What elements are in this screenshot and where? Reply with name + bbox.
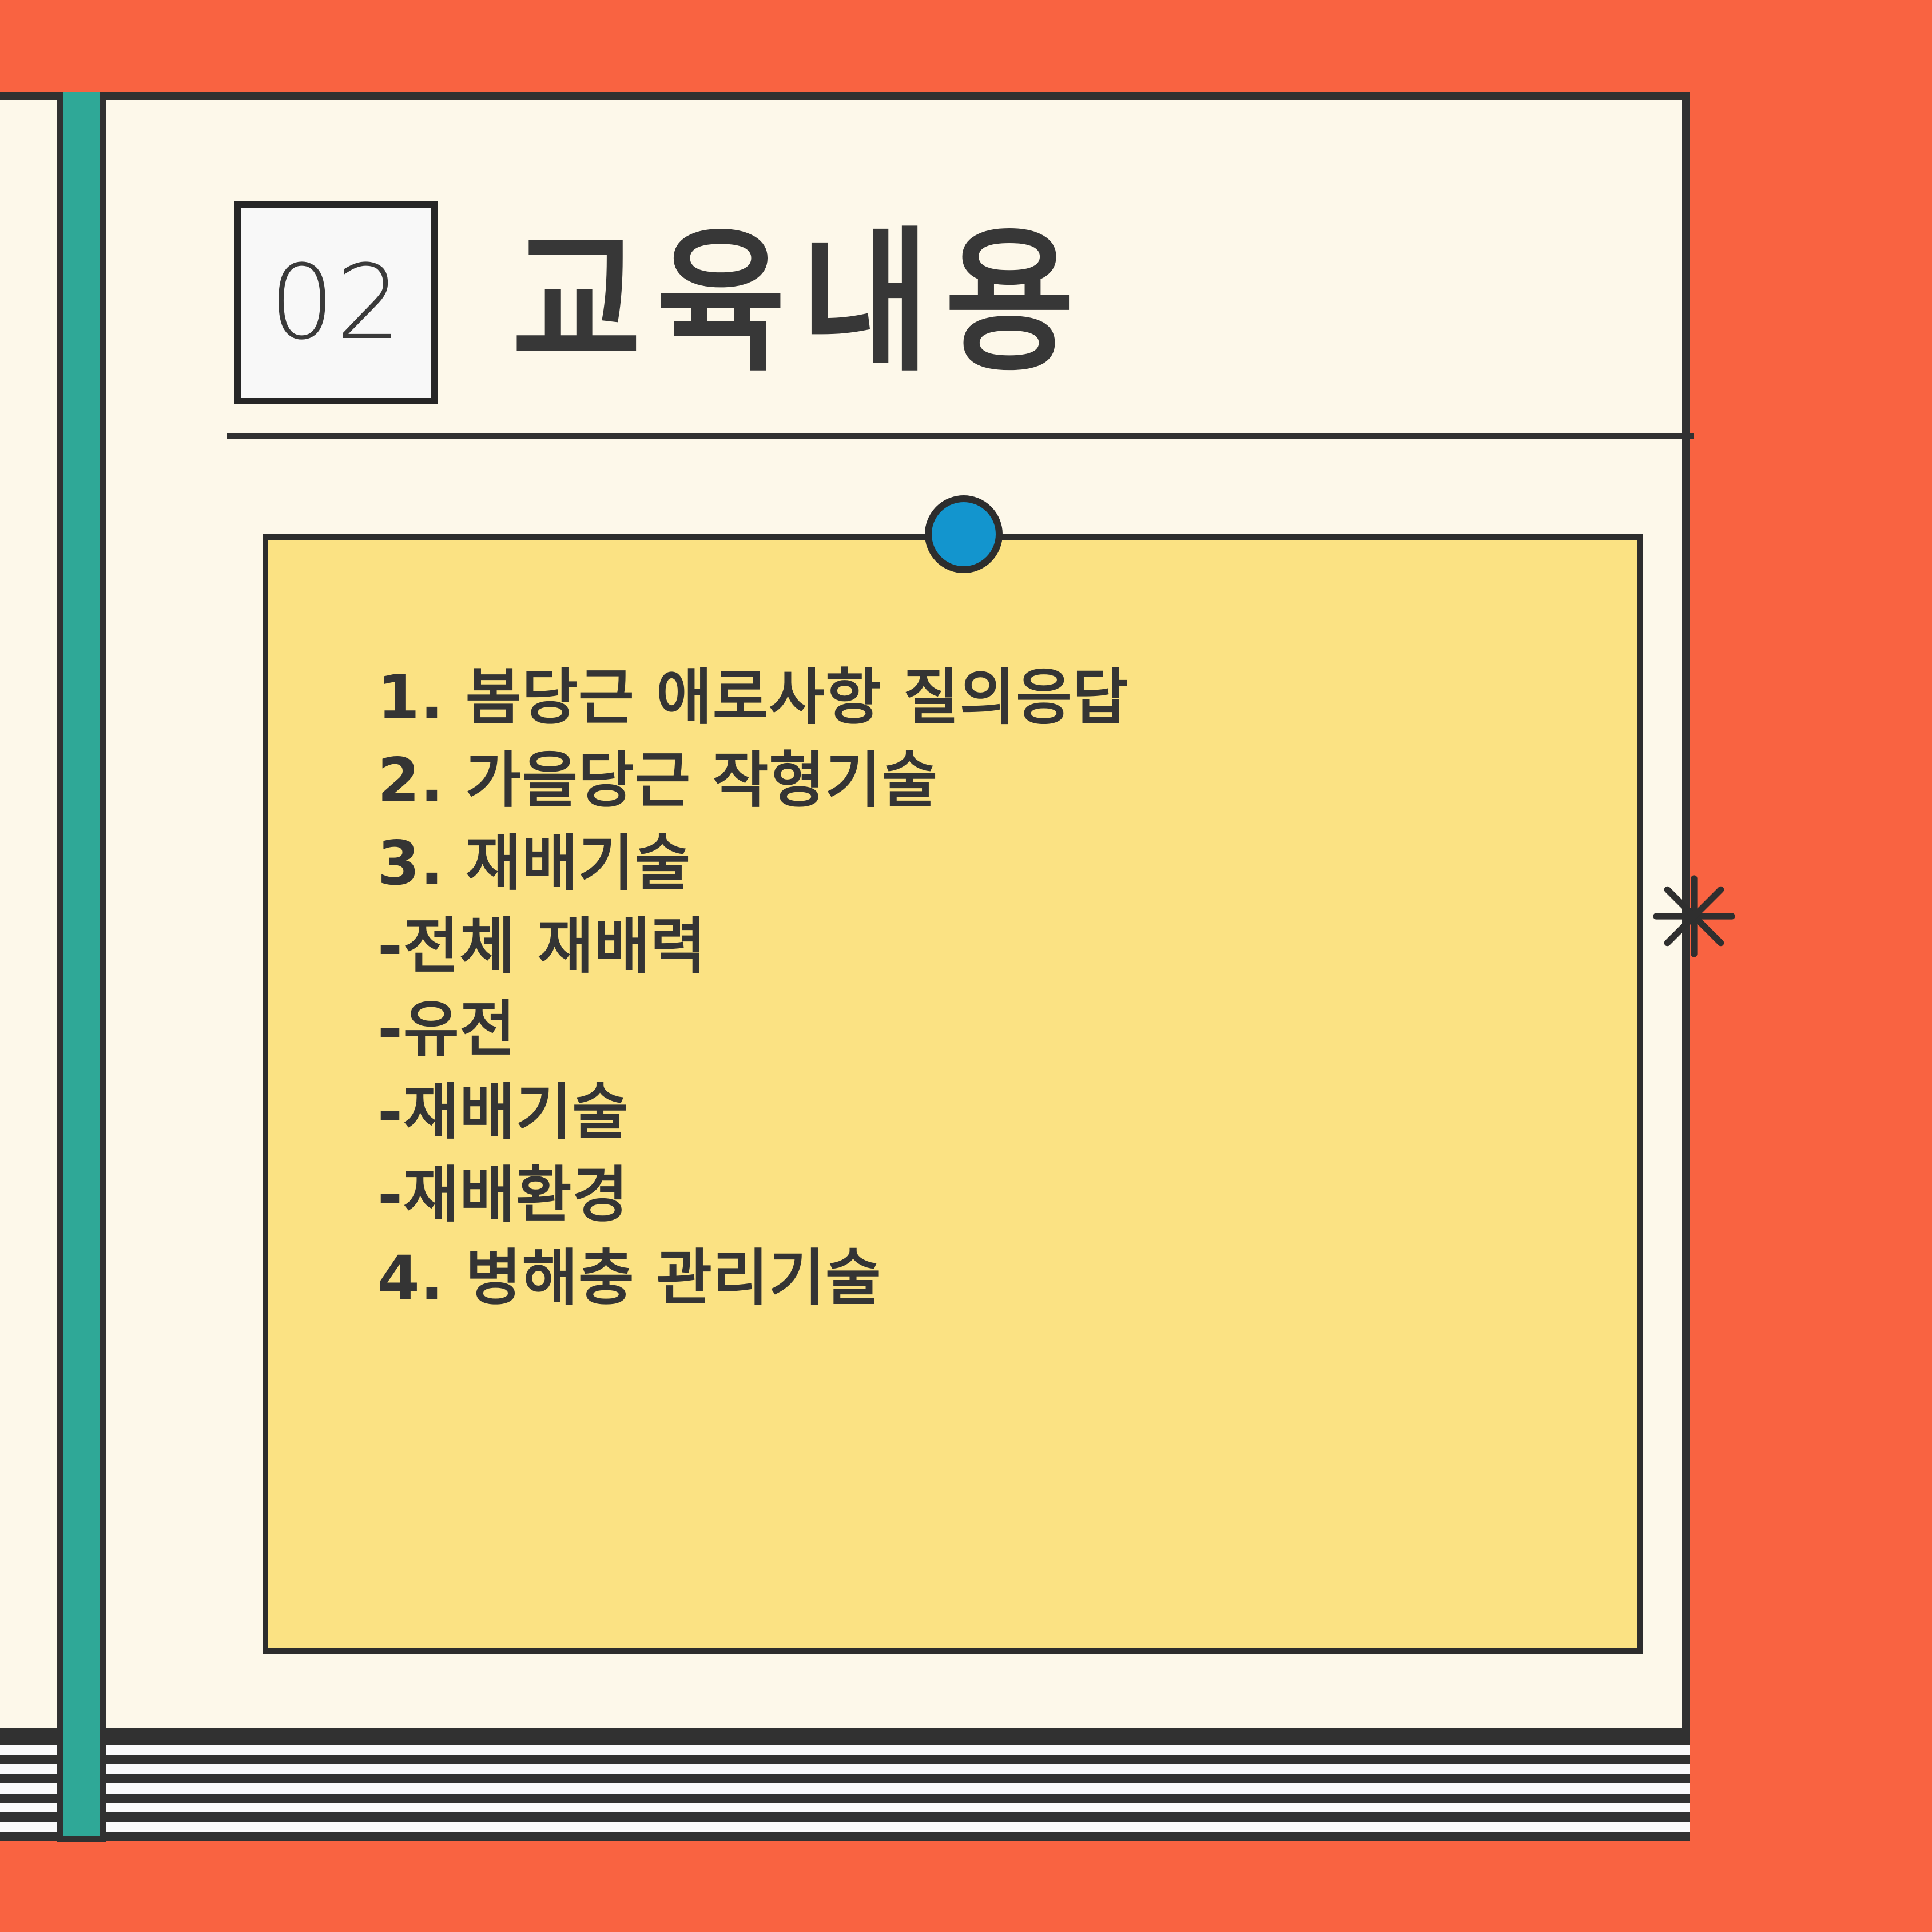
agenda-item: 4. 병해충 관리기술: [377, 1237, 1579, 1319]
asterisk-icon-svg: [1651, 873, 1737, 959]
agenda-item: -유전: [377, 988, 1579, 1071]
agenda-item: 2. 가을당근 작형기술: [377, 739, 1579, 822]
stripe-line: [0, 1774, 1690, 1783]
teal-accent-bar: [57, 92, 106, 1842]
stripe-line: [0, 1794, 1690, 1803]
page-title: 교육내용: [512, 225, 1089, 380]
agenda-list: 1. 봄당근 애로사항 질의응답2. 가을당근 작형기술3. 재배기술-전체 재…: [377, 656, 1579, 1319]
agenda-item: -재배환경: [377, 1154, 1579, 1237]
stripe-line: [0, 1832, 1690, 1841]
section-number-label: 02: [269, 252, 403, 355]
slide-header: 02 교육내용: [234, 201, 1693, 404]
agenda-item: 3. 재배기술: [377, 822, 1579, 905]
agenda-item: -재배기술: [377, 1071, 1579, 1154]
title-divider: [227, 433, 1694, 439]
stripe-line: [0, 1736, 1690, 1745]
stripe-line: [0, 1812, 1690, 1822]
slide-canvas: 02 교육내용 1. 봄당근 애로사항 질의응답2. 가을당근 작형기술3. 재…: [0, 0, 1932, 1932]
agenda-item: 1. 봄당근 애로사항 질의응답: [377, 656, 1579, 739]
blue-dot-marker: [925, 495, 1003, 573]
agenda-item: -전체 재배력: [377, 905, 1579, 988]
bottom-stripe-band: [0, 1736, 1690, 1841]
asterisk-icon: [1651, 873, 1737, 959]
section-number-badge: 02: [234, 201, 438, 404]
stripe-line: [0, 1755, 1690, 1764]
